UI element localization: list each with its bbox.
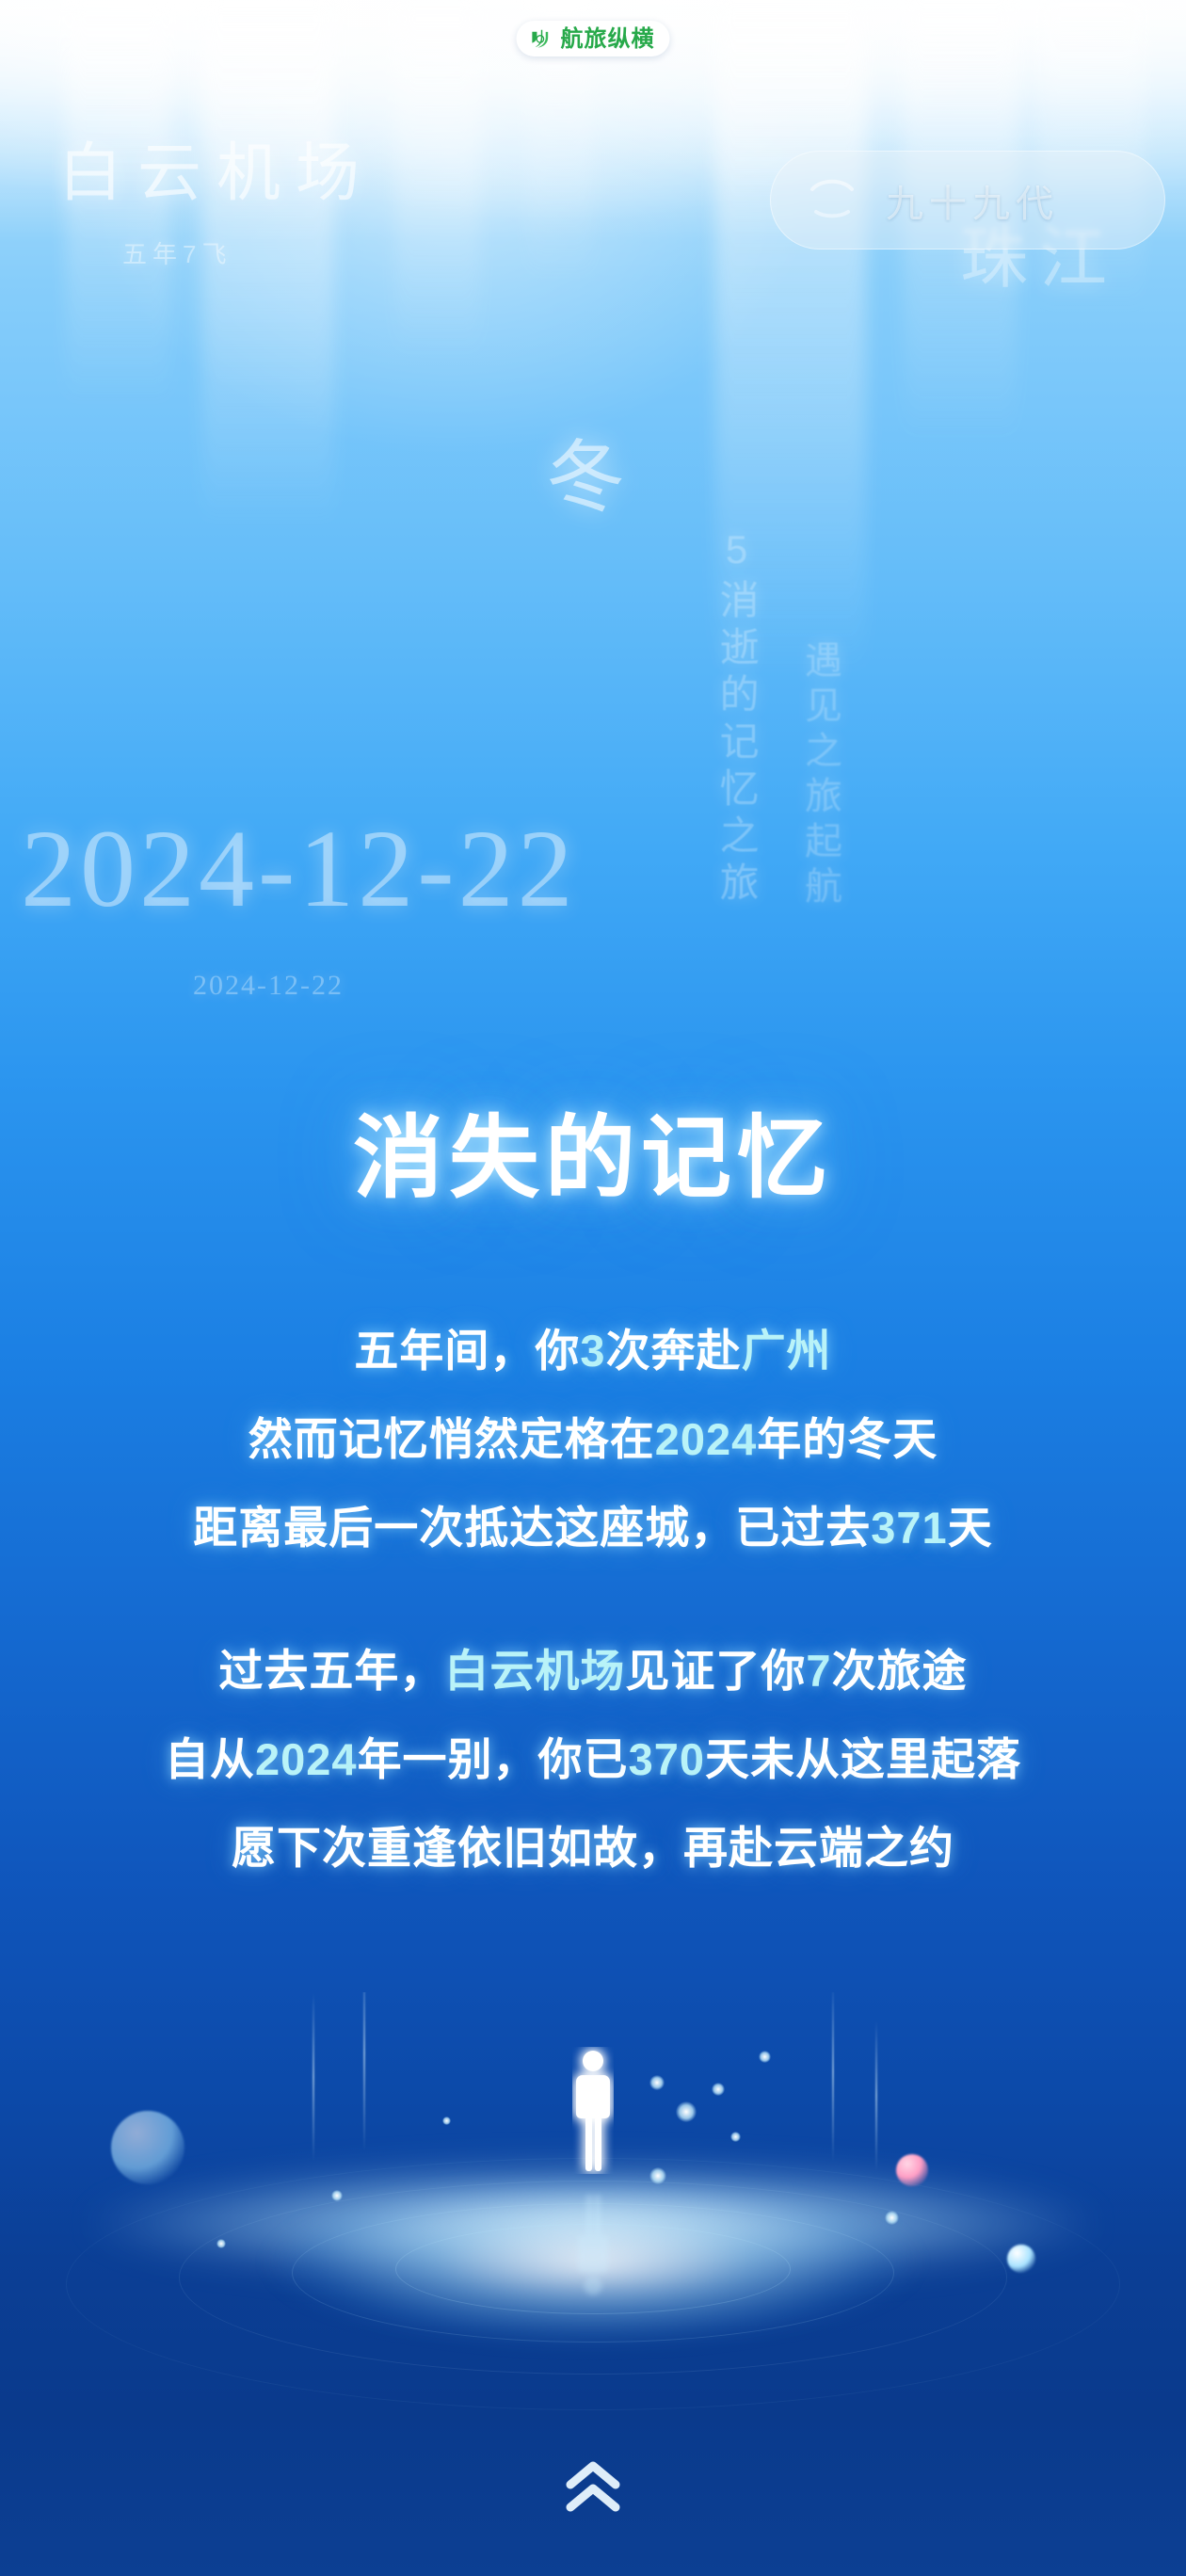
ripple-ring — [395, 2224, 791, 2314]
pink-orb — [896, 2154, 928, 2186]
bokeh-spark — [730, 2132, 741, 2142]
blue-orb — [111, 2111, 184, 2184]
double-chevron-up-icon — [563, 2460, 623, 2518]
bokeh-spark — [676, 2101, 697, 2122]
highlighted-value: 白云机场 — [444, 1646, 625, 1696]
story-line: 自从2024年一别，你已370天未从这里起落 — [0, 1715, 1186, 1804]
paragraph-spacer — [0, 1572, 1186, 1627]
highlighted-value: 7 — [806, 1646, 831, 1696]
app-logo-badge[interactable]: 航旅纵横 — [517, 21, 670, 56]
ghost-season-glyph: 冬 — [546, 414, 625, 528]
story-text: 然而记忆悄然定格在 — [248, 1414, 655, 1464]
swipe-up-button[interactable] — [563, 2460, 623, 2518]
bokeh-spark — [216, 2239, 226, 2248]
bokeh-spark — [759, 2051, 771, 2063]
ghost-airport-subtitle: 五年7飞 — [122, 235, 232, 270]
story-line: 过去五年，白云机场见证了你7次旅途 — [0, 1627, 1186, 1715]
light-rain-line — [832, 1992, 834, 2162]
story-text: 距离最后一次抵达这座城，已过去 — [193, 1503, 871, 1553]
highlighted-value: 370 — [629, 1734, 705, 1784]
story-text: 年的冬天 — [757, 1414, 938, 1464]
umetrip-shield-leaf-icon — [528, 26, 553, 51]
loading-arc-icon — [803, 169, 861, 232]
page-title: 消失的记忆 — [0, 1085, 1186, 1216]
bokeh-spark — [712, 2083, 725, 2096]
story-text: 天未从这里起落 — [705, 1734, 1021, 1784]
story-text: 五年间，你 — [354, 1326, 580, 1376]
highlighted-value: 2024 — [655, 1414, 758, 1464]
story-text: 次奔赴 — [606, 1326, 742, 1376]
highlighted-value: 371 — [871, 1503, 947, 1553]
story-line: 然而记忆悄然定格在2024年的冬天 — [0, 1395, 1186, 1484]
waterfall-streak — [395, 0, 480, 358]
highlighted-value: 2024 — [255, 1734, 358, 1784]
light-rain-line — [875, 2021, 877, 2171]
story-text: 见证了你 — [625, 1646, 806, 1696]
highlighted-value: 3 — [580, 1326, 605, 1376]
story-text: 年一别，你已 — [358, 1734, 629, 1784]
memory-poster: 航旅纵横 九十九代 白云机场 五年7飞 珠江 冬 5消逝的记忆之旅 遇见之旅起航… — [0, 0, 1186, 2576]
story-copy: 五年间，你3次奔赴广州然而记忆悄然定格在2024年的冬天距离最后一次抵达这座城，… — [0, 1307, 1186, 1892]
story-line: 五年间，你3次奔赴广州 — [0, 1307, 1186, 1395]
app-logo-label: 航旅纵横 — [561, 26, 655, 51]
light-rain-line — [363, 1992, 365, 2152]
story-text: 自从 — [165, 1734, 255, 1784]
ghost-vertical-text-primary: 5消逝的记忆之旅 — [715, 527, 757, 909]
bokeh-spark — [885, 2211, 899, 2225]
bokeh-spark — [649, 2075, 665, 2090]
story-text: 过去五年， — [218, 1646, 444, 1696]
story-paragraph-2: 过去五年，白云机场见证了你7次旅途自从2024年一别，你已370天未从这里起落愿… — [0, 1627, 1186, 1892]
story-paragraph-1: 五年间，你3次奔赴广州然而记忆悄然定格在2024年的冬天距离最后一次抵达这座城，… — [0, 1307, 1186, 1572]
ripple-ring — [292, 2203, 894, 2343]
bokeh-spark — [331, 2190, 343, 2201]
person-reflection-icon — [572, 2185, 614, 2298]
ghost-date-small: 2024-12-22 — [193, 970, 344, 1002]
highlighted-value: 广州 — [742, 1326, 832, 1376]
capsule-label: 九十九代 — [886, 173, 1059, 228]
ripple-ring — [179, 2181, 1007, 2375]
ghost-vertical-text-secondary: 遇见之旅起航 — [800, 640, 840, 911]
blue-orb — [1007, 2245, 1035, 2273]
bokeh-spark — [649, 2167, 666, 2184]
bokeh-spark — [442, 2117, 451, 2125]
light-pool — [169, 2171, 1017, 2388]
story-text: 次旅途 — [832, 1646, 968, 1696]
ghost-airport-name: 白云机场 — [58, 121, 375, 214]
glowing-person-silhouette-icon — [572, 2047, 614, 2174]
story-text: 天 — [948, 1503, 993, 1553]
light-rain-line — [313, 1992, 314, 2162]
ghost-date-large: 2024-12-22 — [21, 805, 577, 933]
frosted-capsule-widget[interactable]: 九十九代 — [770, 151, 1165, 250]
story-line: 愿下次重逢依旧如故，再赴云端之约 — [0, 1804, 1186, 1892]
ripple-ring — [66, 2158, 1120, 2410]
story-text: 愿下次重逢依旧如故，再赴云端之约 — [232, 1823, 954, 1873]
story-line: 距离最后一次抵达这座城，已过去371天 — [0, 1484, 1186, 1572]
horizon-glow — [0, 2152, 1186, 2294]
